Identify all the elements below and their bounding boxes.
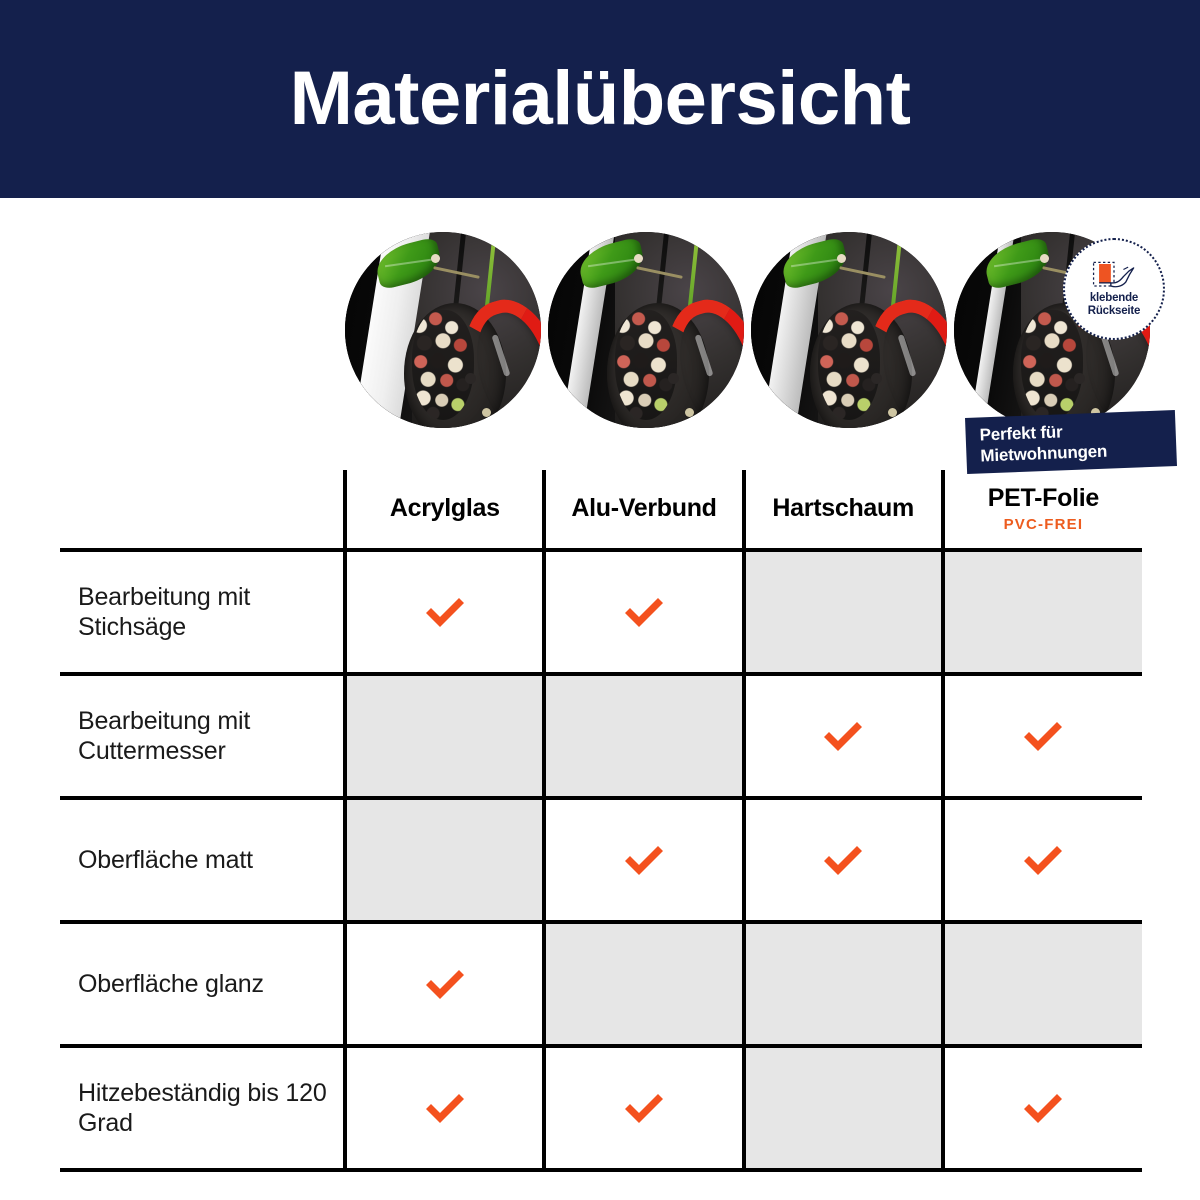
row-label-oberflaeche-glanz: Oberfläche glanz	[60, 922, 345, 1046]
peel-adhesive-icon	[1092, 260, 1136, 290]
rental-banner: Perfekt für Mietwohnungen	[965, 410, 1177, 474]
pvc-free-badge: PVC-FREI	[945, 516, 1142, 533]
table-row: Bearbeitung mit Stichsäge	[60, 550, 1142, 674]
check-icon	[1020, 718, 1066, 754]
table-row: Oberfläche matt	[60, 798, 1142, 922]
badge-label: klebende Rückseite	[1088, 292, 1141, 318]
row-label-stichsaege: Bearbeitung mit Stichsäge	[60, 550, 345, 674]
table-body: Bearbeitung mit Stichsäge Bearbeitung mi…	[60, 550, 1142, 1170]
cell-cuttermesser-acrylglas	[345, 674, 544, 798]
photo-pepper-chili	[751, 232, 947, 428]
check-icon	[820, 842, 866, 878]
badge-label-line2: Rückseite	[1088, 305, 1141, 318]
cell-glanz-acrylglas	[345, 922, 544, 1046]
cell-stichsaege-hartschaum	[744, 550, 943, 674]
cell-matt-acrylglas	[345, 798, 544, 922]
column-header-acrylglas: Acrylglas	[345, 470, 544, 550]
adhesive-backing-badge: klebende Rückseite	[1063, 238, 1165, 340]
preview-image-acrylglas	[345, 232, 541, 428]
photo-seed	[634, 254, 643, 263]
photo-pepper-chili	[345, 232, 541, 428]
cell-cuttermesser-hartschaum	[744, 674, 943, 798]
row-label-cuttermesser: Bearbeitung mit Cuttermesser	[60, 674, 345, 798]
check-icon	[422, 1090, 468, 1126]
table-header-row: Acrylglas Alu-Verbund Hartschaum PET-Fol…	[60, 470, 1142, 550]
photo-seed	[1040, 254, 1049, 263]
page-header: Materialübersicht	[0, 0, 1200, 198]
photo-seed	[871, 373, 882, 384]
column-header-label: Acrylglas	[347, 495, 542, 523]
cell-hitze-alu-verbund	[544, 1046, 743, 1170]
preview-image-hartschaum	[751, 232, 947, 428]
column-header-pet-folie: PET-Folie PVC-FREI	[943, 470, 1142, 550]
cell-hitze-hartschaum	[744, 1046, 943, 1170]
check-icon	[621, 1090, 667, 1126]
row-label-hitzebestaendig: Hitzebeständig bis 120 Grad	[60, 1046, 345, 1170]
cell-matt-pet-folie	[943, 798, 1142, 922]
photo-seed	[1074, 373, 1085, 384]
column-header-alu-verbund: Alu-Verbund	[544, 470, 743, 550]
page-title: Materialübersicht	[290, 61, 911, 137]
photo-seed	[668, 373, 679, 384]
check-icon	[1020, 1090, 1066, 1126]
column-header-label: PET-Folie	[945, 485, 1142, 513]
photo-seed	[837, 254, 846, 263]
cell-glanz-hartschaum	[744, 922, 943, 1046]
check-icon	[422, 966, 468, 1002]
cell-stichsaege-alu-verbund	[544, 550, 743, 674]
preview-image-alu-verbund	[548, 232, 744, 428]
cell-stichsaege-acrylglas	[345, 550, 544, 674]
photo-pepper-chili	[548, 232, 744, 428]
check-icon	[1020, 842, 1066, 878]
cell-cuttermesser-alu-verbund	[544, 674, 743, 798]
check-icon	[621, 842, 667, 878]
material-comparison-table: Acrylglas Alu-Verbund Hartschaum PET-Fol…	[60, 470, 1142, 1172]
photo-seed	[465, 373, 476, 384]
check-icon	[422, 594, 468, 630]
table-row: Oberfläche glanz	[60, 922, 1142, 1046]
column-header-label: Hartschaum	[746, 495, 941, 523]
material-preview-hartschaum[interactable]	[751, 232, 947, 428]
cell-cuttermesser-pet-folie	[943, 674, 1142, 798]
table-row: Hitzebeständig bis 120 Grad	[60, 1046, 1142, 1170]
material-preview-row	[345, 232, 1145, 432]
table-corner-cell	[60, 470, 345, 550]
check-icon	[621, 594, 667, 630]
row-label-oberflaeche-matt: Oberfläche matt	[60, 798, 345, 922]
check-icon	[820, 718, 866, 754]
column-header-hartschaum: Hartschaum	[744, 470, 943, 550]
badge-label-line1: klebende	[1088, 292, 1141, 305]
cell-hitze-acrylglas	[345, 1046, 544, 1170]
material-preview-alu-verbund[interactable]	[548, 232, 744, 428]
column-header-label: Alu-Verbund	[546, 495, 741, 523]
photo-seed	[431, 254, 440, 263]
material-preview-acrylglas[interactable]	[345, 232, 541, 428]
cell-matt-hartschaum	[744, 798, 943, 922]
cell-glanz-alu-verbund	[544, 922, 743, 1046]
cell-hitze-pet-folie	[943, 1046, 1142, 1170]
cell-matt-alu-verbund	[544, 798, 743, 922]
table-row: Bearbeitung mit Cuttermesser	[60, 674, 1142, 798]
cell-stichsaege-pet-folie	[943, 550, 1142, 674]
cell-glanz-pet-folie	[943, 922, 1142, 1046]
